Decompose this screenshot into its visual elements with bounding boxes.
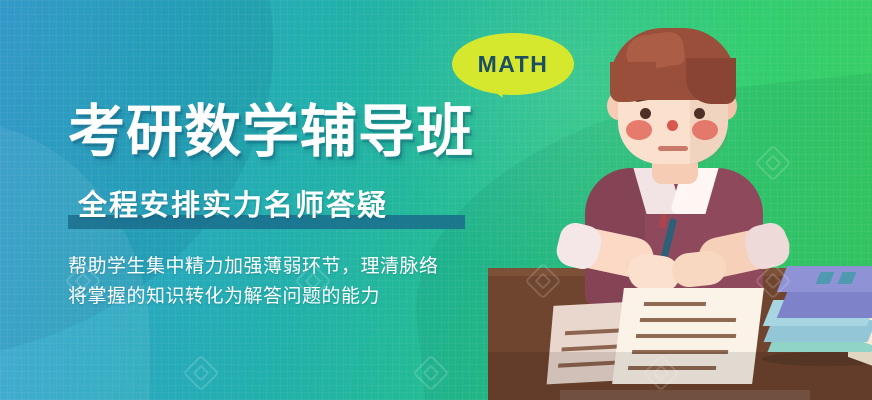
paper-line bbox=[640, 318, 736, 322]
eye-left bbox=[640, 108, 651, 119]
description-line-2: 将掌握的知识转化为解答问题的能力 bbox=[68, 282, 439, 312]
banner-title: 考研数学辅导班 bbox=[68, 101, 474, 163]
nose bbox=[667, 120, 678, 131]
book-top-spine bbox=[777, 292, 872, 318]
promo-banner: 考研数学辅导班 全程安排实力名师答疑 帮助学生集中精力加强薄弱环节，理清脉络 将… bbox=[0, 0, 872, 400]
mouth bbox=[658, 146, 688, 151]
eye-right bbox=[694, 108, 705, 119]
banner-description: 帮助学生集中精力加强薄弱环节，理清脉络 将掌握的知识转化为解答问题的能力 bbox=[68, 252, 439, 312]
cheek-left bbox=[626, 120, 652, 140]
hair-fringe-right bbox=[686, 58, 736, 104]
desk-bottom-strip bbox=[560, 390, 810, 400]
student-illustration bbox=[500, 0, 872, 400]
paper-line bbox=[644, 302, 706, 306]
description-line-1: 帮助学生集中精力加强薄弱环节，理清脉络 bbox=[68, 252, 439, 282]
paper-line bbox=[636, 334, 736, 338]
subtitle-block: 全程安排实力名师答疑 bbox=[0, 186, 560, 236]
cheek-right bbox=[692, 120, 718, 140]
banner-subtitle: 全程安排实力名师答疑 bbox=[78, 186, 388, 226]
